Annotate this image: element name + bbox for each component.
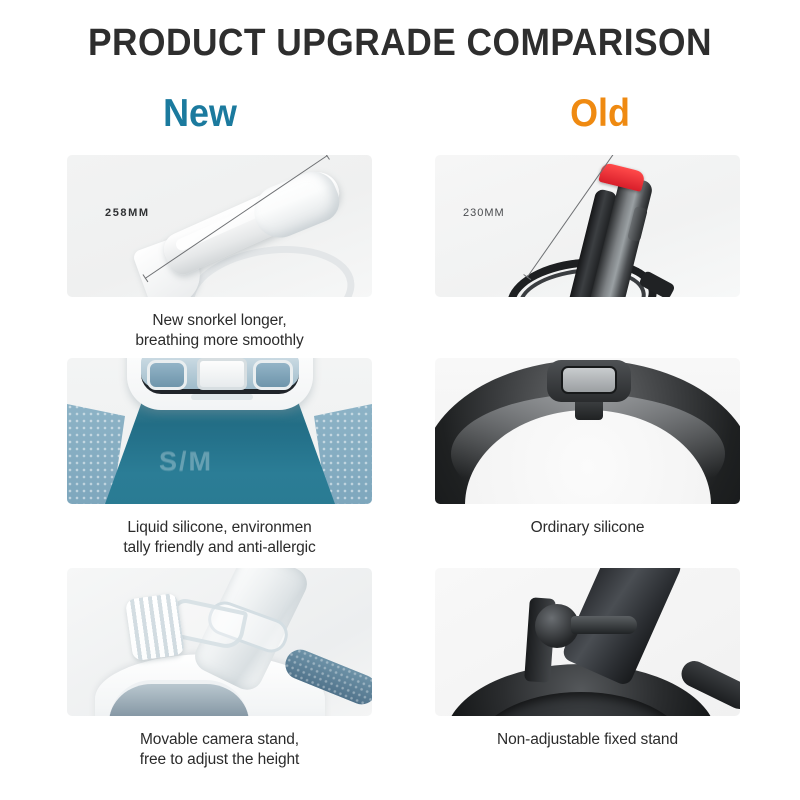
center-window <box>197 358 247 390</box>
column-header-old: Old <box>416 92 784 136</box>
caption-line-2: tally friendly and anti-allergic <box>67 538 372 558</box>
teal-silicone-skirt <box>105 402 335 504</box>
caption-line-1: Non-adjustable fixed stand <box>435 730 740 750</box>
frame-lip <box>191 394 253 400</box>
mask-lens <box>109 680 249 716</box>
comparison-grid: 258MM New snorkel longer, breathing more… <box>0 155 800 800</box>
valve-right <box>253 360 293 390</box>
old-housing-stem <box>575 402 603 420</box>
old-snorkel-red-tip <box>598 162 646 192</box>
size-emboss-label: S/M <box>159 446 213 477</box>
dimension-label-new: 258MM <box>105 207 150 219</box>
comparison-row-silicone-material: S/M Liquid silicone, environmen tally fr… <box>0 358 800 568</box>
caption-line-2: free to adjust the height <box>67 750 372 770</box>
new-caption-silicone: Liquid silicone, environmen tally friend… <box>67 518 372 559</box>
comparison-row-snorkel-length: 258MM New snorkel longer, breathing more… <box>0 155 800 358</box>
old-center-window <box>561 366 617 394</box>
stand-screw <box>571 616 637 634</box>
old-cell-snorkel-length: 230MM <box>435 155 740 311</box>
new-cell-snorkel-length: 258MM New snorkel longer, breathing more… <box>67 155 372 352</box>
new-cell-silicone: S/M Liquid silicone, environmen tally fr… <box>67 358 372 559</box>
new-caption-camera-stand: Movable camera stand, free to adjust the… <box>67 730 372 771</box>
column-header-new: New <box>16 92 384 136</box>
caption-line-1: Movable camera stand, <box>67 730 372 750</box>
old-caption-camera-stand: Non-adjustable fixed stand <box>435 730 740 750</box>
new-cell-camera-stand: Movable camera stand, free to adjust the… <box>67 568 372 771</box>
caption-line-1: Liquid silicone, environmen <box>67 518 372 538</box>
dimension-label-old: 230MM <box>463 207 505 219</box>
new-stand-photo <box>67 568 372 716</box>
caption-line-1: Ordinary silicone <box>435 518 740 538</box>
old-cell-camera-stand: Non-adjustable fixed stand <box>435 568 740 750</box>
new-snorkel-photo: 258MM <box>67 155 372 297</box>
caption-line-2: breathing more smoothly <box>67 331 372 351</box>
page-title: PRODUCT UPGRADE COMPARISON <box>28 22 772 65</box>
old-silicone-photo <box>435 358 740 504</box>
column-headers: New Old <box>0 92 800 136</box>
old-stand-photo <box>435 568 740 716</box>
old-caption-silicone: Ordinary silicone <box>435 518 740 538</box>
old-snorkel-photo: 230MM <box>435 155 740 297</box>
camera-mount-bracket <box>125 593 185 662</box>
caption-line-1: New snorkel longer, <box>67 311 372 331</box>
comparison-row-camera-stand: Movable camera stand, free to adjust the… <box>0 568 800 800</box>
new-caption-snorkel-length: New snorkel longer, breathing more smoot… <box>67 311 372 352</box>
valve-left <box>147 360 187 390</box>
old-cell-silicone: Ordinary silicone <box>435 358 740 538</box>
new-silicone-photo: S/M <box>67 358 372 504</box>
